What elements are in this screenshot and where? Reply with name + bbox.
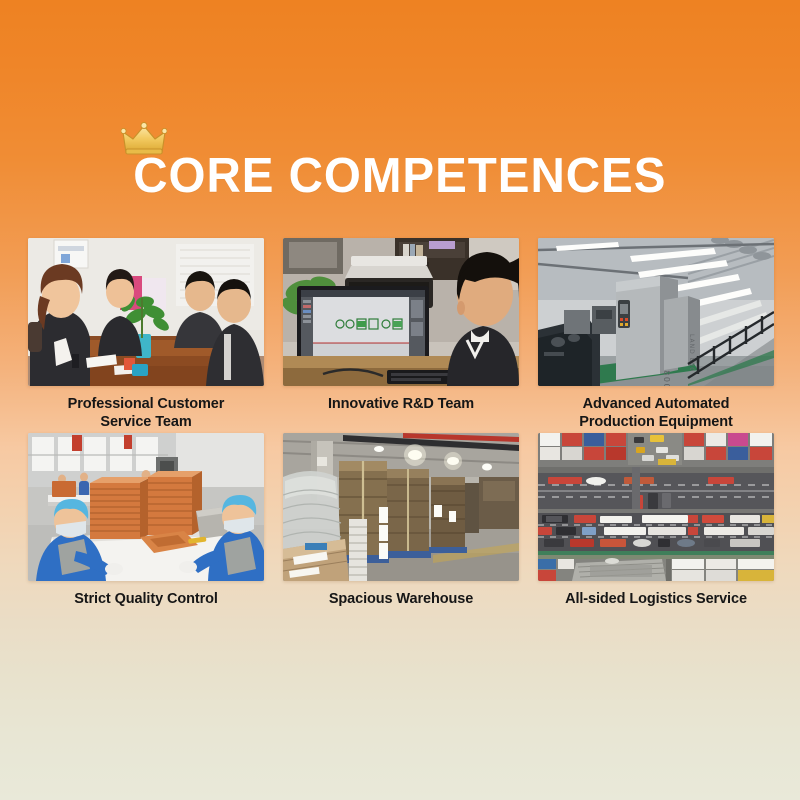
page-title: CORE COMPETENCES <box>133 150 666 203</box>
card-all-sided-logistics-service[interactable]: All-sided Logistics Service <box>538 433 774 608</box>
photo-printing-press: LAND 800 LAND 800 <box>538 238 774 386</box>
title-block: CORE COMPETENCES <box>0 150 800 203</box>
card-caption: Innovative R&D Team <box>283 395 519 413</box>
card-spacious-warehouse[interactable]: Spacious Warehouse <box>283 433 519 608</box>
competence-grid: Professional Customer Service Team <box>28 238 772 431</box>
title-wrap: CORE COMPETENCES <box>125 150 675 203</box>
svg-text:LAND 800: LAND 800 <box>688 334 695 372</box>
card-innovative-rd-team[interactable]: Innovative R&D Team <box>283 238 519 431</box>
card-caption: Professional Customer Service Team <box>28 395 264 431</box>
photo-meeting-room <box>28 238 264 386</box>
card-professional-customer-service-team[interactable]: Professional Customer Service Team <box>28 238 264 431</box>
photo-rd-workstation <box>283 238 519 386</box>
photo-logistics-aerial <box>538 433 774 581</box>
card-caption: All-sided Logistics Service <box>538 590 774 608</box>
card-caption: Strict Quality Control <box>28 590 264 608</box>
card-caption: Spacious Warehouse <box>283 590 519 608</box>
photo-warehouse <box>283 433 519 581</box>
photo-quality-control <box>28 433 264 581</box>
card-strict-quality-control[interactable]: Strict Quality Control <box>28 433 264 608</box>
promo-banner: CORE COMPETENCES <box>0 0 800 800</box>
card-advanced-automated-production-equipment[interactable]: LAND 800 LAND 800 <box>538 238 774 431</box>
card-caption: Advanced Automated Production Equipment <box>538 395 774 431</box>
competence-grid-row2: Strict Quality Control <box>28 433 772 608</box>
